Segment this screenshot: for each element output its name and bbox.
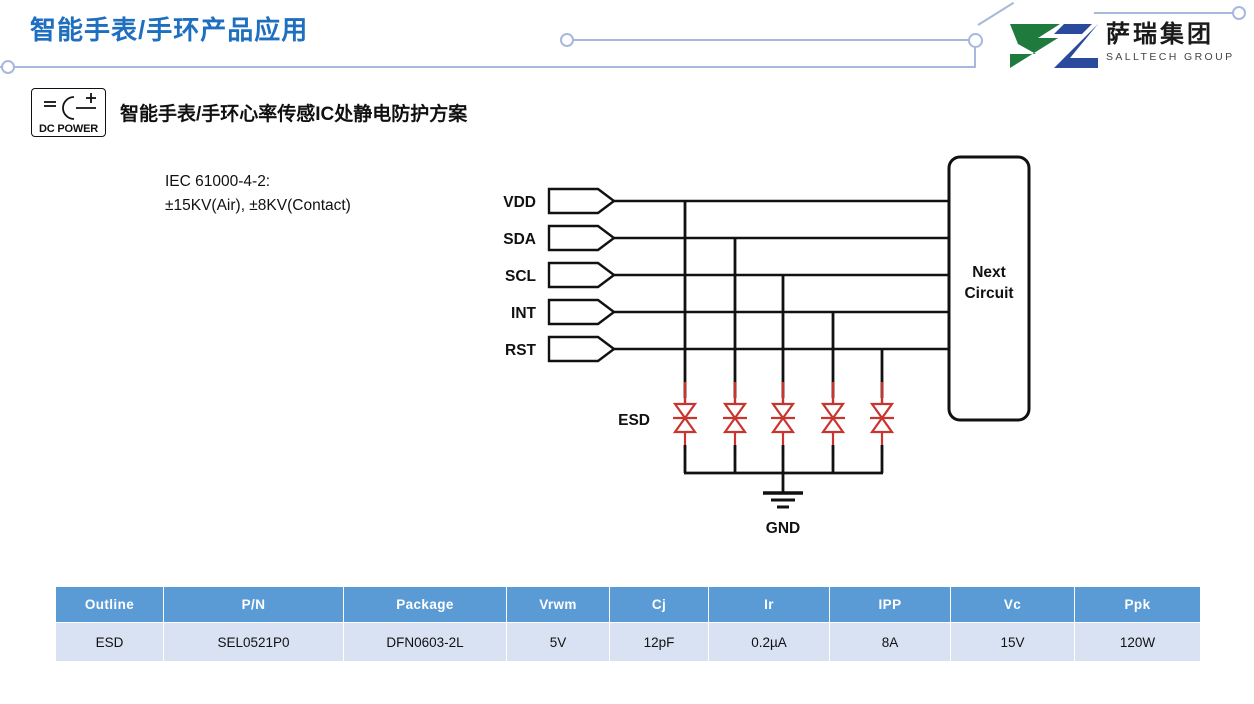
next-circuit-label-line2: Circuit — [964, 285, 1013, 302]
tvs-diode-scl — [771, 404, 795, 452]
cell-vrwm: 5V — [507, 623, 610, 662]
esd-protection-circuit-diagram: VDD SDA SCL INT RST — [0, 140, 1254, 560]
deco-circle-top-right — [1232, 6, 1246, 20]
cell-pn: SEL0521P0 — [164, 623, 344, 662]
deco-line-lower — [0, 66, 976, 68]
signal-label-scl: SCL — [505, 268, 536, 285]
connector-arrow-rst — [549, 337, 614, 361]
cell-outline: ESD — [56, 623, 164, 662]
connector-arrow-vdd — [549, 189, 614, 213]
dc-power-icon — [32, 90, 107, 124]
salltech-logo-icon — [1008, 22, 1100, 70]
table-header-outline[interactable]: Outline — [56, 587, 164, 623]
deco-circle-upper-left — [560, 33, 574, 47]
connector-arrow-sda — [549, 226, 614, 250]
tvs-diode-vdd — [673, 404, 697, 452]
ground-symbol-icon — [763, 493, 803, 507]
table-header-ppk[interactable]: Ppk — [1075, 587, 1201, 623]
cell-vc: 15V — [951, 623, 1075, 662]
dc-power-label: DC POWER — [32, 123, 105, 135]
section-title: 智能手表/手环心率传感IC处静电防护方案 — [120, 99, 467, 126]
deco-circle-lower-left — [1, 60, 15, 74]
next-circuit-label-line1: Next — [972, 264, 1006, 281]
gnd-label: GND — [766, 520, 800, 537]
signal-label-rst: RST — [505, 342, 537, 359]
table-header-vrwm[interactable]: Vrwm — [507, 587, 610, 623]
connector-arrow-scl — [549, 263, 614, 287]
table-header-cj[interactable]: Cj — [610, 587, 709, 623]
cell-package: DFN0603-2L — [344, 623, 507, 662]
signal-label-sda: SDA — [503, 231, 536, 248]
specification-table: Outline P/N Package Vrwm Cj Ir IPP Vc Pp… — [55, 586, 1201, 662]
table-header-ir[interactable]: Ir — [709, 587, 830, 623]
dc-power-badge: DC POWER — [31, 88, 106, 137]
table-header-row: Outline P/N Package Vrwm Cj Ir IPP Vc Pp… — [56, 587, 1201, 623]
cell-cj: 12pF — [610, 623, 709, 662]
cell-ppk: 120W — [1075, 623, 1201, 662]
tvs-diode-rst — [870, 404, 894, 452]
brand-logo-text: 萨瑞集团 SALLTECH GROUP — [1106, 20, 1246, 72]
brand-logo: 萨瑞集团 SALLTECH GROUP — [1008, 20, 1244, 76]
deco-line-upper — [568, 39, 980, 41]
page-title: 智能手表/手环产品应用 — [30, 10, 308, 47]
tvs-diode-int — [821, 404, 845, 452]
table-header-pn[interactable]: P/N — [164, 587, 344, 623]
table-header-package[interactable]: Package — [344, 587, 507, 623]
signal-label-int: INT — [511, 305, 537, 322]
esd-label: ESD — [618, 412, 650, 429]
connector-arrow-int — [549, 300, 614, 324]
page-header: 智能手表/手环产品应用 萨瑞集团 SALLTECH GROUP — [0, 0, 1254, 88]
cell-ir: 0.2µA — [709, 623, 830, 662]
deco-line-top-right — [1094, 12, 1234, 14]
deco-line-drop — [974, 46, 976, 68]
table-header-ipp[interactable]: IPP — [830, 587, 951, 623]
brand-name-cn: 萨瑞集团 — [1106, 20, 1246, 50]
signal-label-vdd: VDD — [503, 194, 536, 211]
table-row[interactable]: ESD SEL0521P0 DFN0603-2L 5V 12pF 0.2µA 8… — [56, 623, 1201, 662]
tvs-diode-sda — [723, 404, 747, 452]
cell-ipp: 8A — [830, 623, 951, 662]
brand-name-en: SALLTECH GROUP — [1106, 50, 1246, 64]
table-header-vc[interactable]: Vc — [951, 587, 1075, 623]
